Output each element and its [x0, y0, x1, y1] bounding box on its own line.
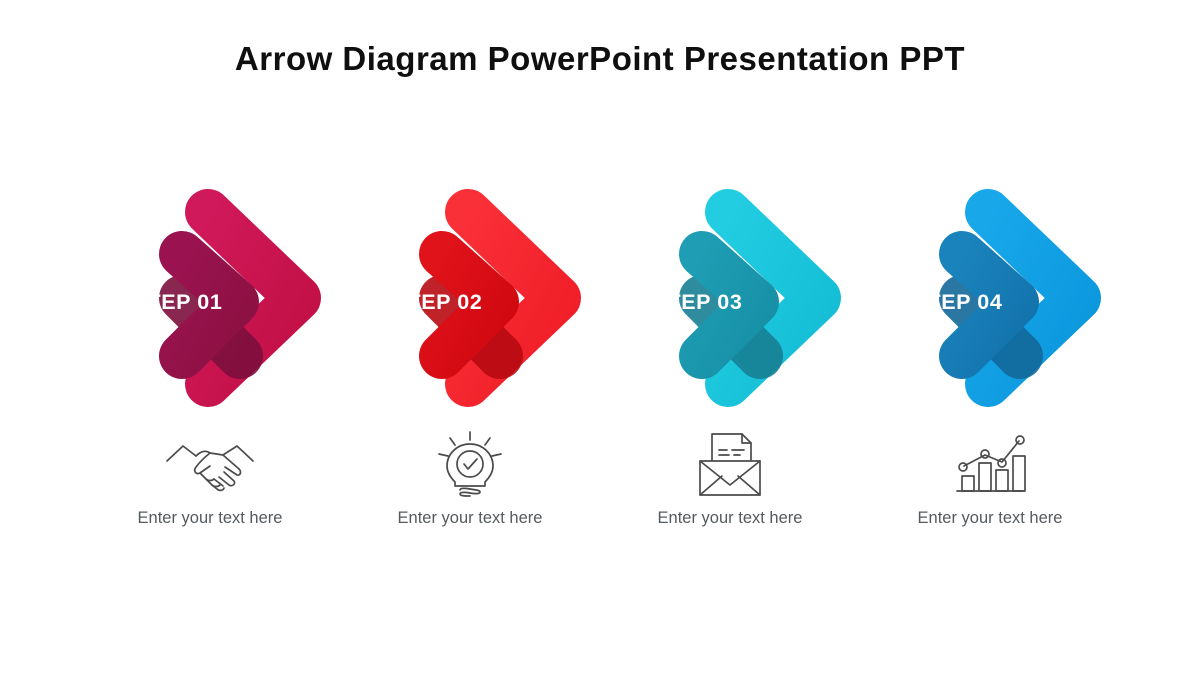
step-item-2[interactable]: STEP 02 Enter your text here — [340, 190, 600, 550]
handshake-icon — [160, 427, 260, 501]
step-caption-3: Enter your text here — [658, 509, 803, 528]
slide-canvas: Arrow Diagram PowerPoint Presentation PP… — [0, 0, 1200, 675]
arrow-svg-2 — [350, 190, 590, 405]
lightbulb-check-icon-svg — [423, 428, 517, 500]
arrow-steps-row: STEP 01 Enter your text here — [0, 190, 1200, 550]
arrow-svg-1 — [90, 190, 330, 405]
arrow-front-shape-2 — [374, 254, 500, 356]
handshake-icon-svg — [163, 428, 257, 500]
arrow-front-shape-4 — [894, 254, 1020, 356]
page-title: Arrow Diagram PowerPoint Presentation PP… — [0, 40, 1200, 78]
bar-chart-growth-icon-svg — [943, 428, 1037, 500]
step-item-4[interactable]: STEP 04 Enter your text here — [860, 190, 1120, 550]
open-envelope-letter-icon-svg — [683, 428, 777, 500]
step-caption-1: Enter your text here — [138, 509, 283, 528]
step-item-3[interactable]: STEP 03 Enter your text here — [600, 190, 860, 550]
step-caption-4: Enter your text here — [918, 509, 1063, 528]
open-envelope-letter-icon — [680, 427, 780, 501]
arrow-front-shape-1 — [114, 254, 240, 356]
arrow-graphic-2[interactable]: STEP 02 — [350, 190, 590, 405]
arrow-front-shape-3 — [634, 254, 760, 356]
arrow-graphic-4[interactable]: STEP 04 — [870, 190, 1110, 405]
arrow-graphic-3[interactable]: STEP 03 — [610, 190, 850, 405]
arrow-svg-3 — [610, 190, 850, 405]
bar-chart-growth-icon — [940, 427, 1040, 501]
step-caption-2: Enter your text here — [398, 509, 543, 528]
lightbulb-check-icon — [420, 427, 520, 501]
arrow-graphic-1[interactable]: STEP 01 — [90, 190, 330, 405]
arrow-svg-4 — [870, 190, 1110, 405]
step-item-1[interactable]: STEP 01 Enter your text here — [80, 190, 340, 550]
